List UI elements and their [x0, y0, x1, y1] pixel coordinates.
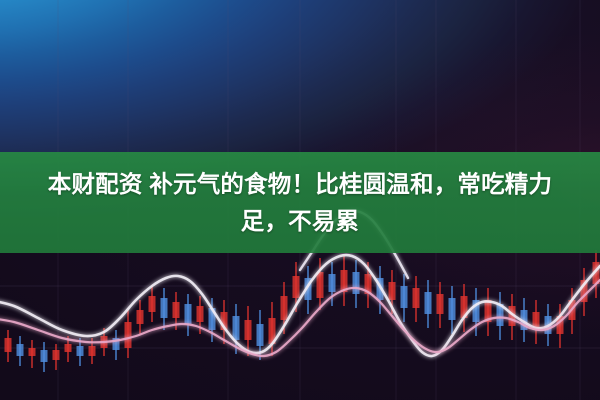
candlestick: [341, 256, 348, 306]
candle-body: [125, 322, 132, 348]
candlestick: [533, 300, 540, 344]
candlestick: [449, 286, 456, 334]
candlestick: [29, 340, 36, 368]
candle-body: [65, 344, 72, 352]
candle-body: [137, 310, 144, 324]
candle-body: [5, 338, 12, 352]
candlestick: [437, 282, 444, 328]
candle-body: [293, 276, 300, 298]
candle-body: [53, 350, 60, 360]
candle-body: [425, 292, 432, 314]
candlestick: [137, 300, 144, 334]
candlestick: [353, 260, 360, 308]
candle-body: [77, 346, 84, 356]
candlestick: [17, 336, 24, 366]
candle-body: [173, 302, 180, 318]
candle-body: [185, 304, 192, 324]
candle-body: [161, 298, 168, 318]
candle-body: [257, 324, 264, 346]
candle-body: [389, 282, 396, 300]
headline-line-1: 本财配资 补元气的食物！比桂圆温和，常吃精力: [48, 166, 552, 203]
candle-body: [449, 298, 456, 320]
candlestick: [497, 292, 504, 340]
candle-body: [413, 288, 420, 308]
candle-body: [329, 274, 336, 292]
candlestick: [5, 330, 12, 362]
headline-line-2: 足，不易累: [241, 203, 360, 240]
candle-body: [29, 348, 36, 356]
candle-body: [41, 350, 48, 362]
candle-body: [353, 272, 360, 294]
candle-body: [245, 320, 252, 340]
candle-body: [401, 286, 408, 308]
candlestick: [485, 288, 492, 336]
headline-banner: 本财配资 补元气的食物！比桂圆温和，常吃精力 足，不易累: [0, 152, 600, 253]
candlestick: [557, 304, 564, 348]
candlestick: [413, 276, 420, 322]
candle-body: [17, 344, 24, 356]
candle-body: [281, 296, 288, 320]
candle-body: [233, 316, 240, 340]
candlestick: [401, 274, 408, 322]
candlestick: [425, 280, 432, 328]
candlestick: [461, 284, 468, 332]
candlestick: [41, 342, 48, 372]
banner-image: 本财配资 补元气的食物！比桂圆温和，常吃精力 足，不易累: [0, 0, 600, 400]
candlestick: [149, 286, 156, 322]
candlestick: [125, 310, 132, 358]
candle-body: [197, 306, 204, 322]
candle-body: [437, 294, 444, 314]
candle-body: [317, 272, 324, 298]
candlestick: [113, 330, 120, 360]
candle-body: [89, 346, 96, 356]
candlestick: [473, 288, 480, 336]
candle-body: [149, 296, 156, 312]
candlestick: [185, 294, 192, 336]
candlestick: [161, 288, 168, 330]
